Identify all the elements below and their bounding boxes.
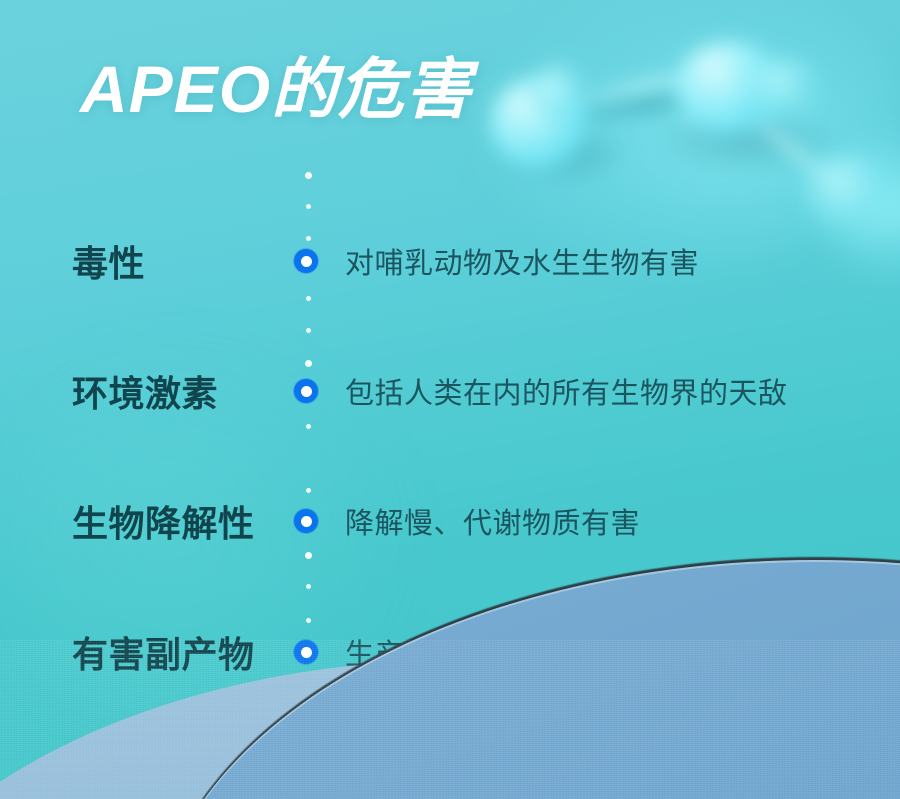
list-item: 生物降解性 降解慢、代谢物质有害 xyxy=(0,497,900,545)
list-item: 有害副产物 生产过程中会产生致癌副产物 xyxy=(0,628,900,676)
glow-highlight-top-right xyxy=(470,0,900,270)
list-item: 毒性 对哺乳动物及水生生物有害 xyxy=(0,237,900,285)
list-item-label: 环境激素 xyxy=(72,365,290,417)
bullet-ring-icon xyxy=(294,249,318,273)
bullet-ring-icon xyxy=(294,379,318,403)
list-item-description: 降解慢、代谢物质有害 xyxy=(345,500,640,542)
molecule-illustration-icon xyxy=(470,5,900,220)
bottom-band-deep xyxy=(150,560,900,799)
bottom-band-edge xyxy=(150,557,900,799)
list-item-description: 生产过程中会产生致癌副产物 xyxy=(345,631,729,673)
bottom-band-light xyxy=(0,660,900,799)
list-item: 环境激素 包括人类在内的所有生物界的天敌 xyxy=(0,367,900,415)
list-item-description: 包括人类在内的所有生物界的天敌 xyxy=(345,370,788,412)
list-item-label: 生物降解性 xyxy=(72,495,290,547)
list-item-label: 毒性 xyxy=(72,235,290,287)
list-item-label: 有害副产物 xyxy=(72,626,290,678)
bullet-ring-icon xyxy=(294,640,318,664)
page-title: APEO的危害 xyxy=(80,55,472,125)
list-item-description: 对哺乳动物及水生生物有害 xyxy=(345,240,699,282)
infographic-poster: APEO的危害 毒性 对哺乳动物及水生生物有害 环境激素 包括人类在内的所有生物… xyxy=(0,0,900,799)
bullet-ring-icon xyxy=(294,509,318,533)
